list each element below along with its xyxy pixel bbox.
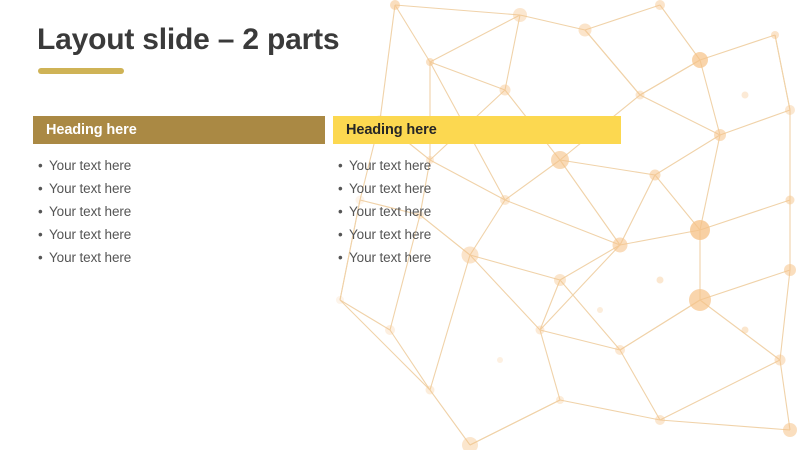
list-item: • Your text here	[33, 204, 325, 227]
heading-label-left: Heading here	[46, 122, 137, 138]
list-item-label: Your text here	[349, 204, 431, 219]
bullet-dot-icon: •	[38, 159, 49, 173]
list-item-label: Your text here	[349, 181, 431, 196]
bullet-dot-icon: •	[338, 159, 349, 173]
list-item-label: Your text here	[49, 181, 131, 196]
bullet-dot-icon: •	[338, 182, 349, 196]
list-item: • Your text here	[33, 250, 325, 273]
list-item-label: Your text here	[49, 158, 131, 173]
bullet-dot-icon: •	[338, 251, 349, 265]
list-item: • Your text here	[33, 227, 325, 250]
bullet-dot-icon: •	[38, 251, 49, 265]
bullet-dot-icon: •	[338, 205, 349, 219]
list-item-label: Your text here	[49, 204, 131, 219]
bullet-dot-icon: •	[38, 182, 49, 196]
bullet-list-right: • Your text here • Your text here • Your…	[333, 158, 621, 273]
list-item: • Your text here	[333, 227, 621, 250]
bullet-list-left: • Your text here • Your text here • Your…	[33, 158, 325, 273]
list-item: • Your text here	[333, 181, 621, 204]
list-item: • Your text here	[33, 181, 325, 204]
list-item: • Your text here	[33, 158, 325, 181]
list-item-label: Your text here	[49, 250, 131, 265]
content-column-right: Heading here • Your text here • Your tex…	[333, 116, 621, 273]
content-column-left: Heading here • Your text here • Your tex…	[33, 116, 325, 273]
list-item: • Your text here	[333, 158, 621, 181]
slide-canvas: Layout slide – 2 parts Heading here • Yo…	[0, 0, 800, 450]
bullet-dot-icon: •	[38, 228, 49, 242]
list-item-label: Your text here	[49, 227, 131, 242]
bullet-dot-icon: •	[38, 205, 49, 219]
bullet-dot-icon: •	[338, 228, 349, 242]
list-item: • Your text here	[333, 250, 621, 273]
list-item-label: Your text here	[349, 227, 431, 242]
list-item: • Your text here	[333, 204, 621, 227]
page-title: Layout slide – 2 parts	[37, 22, 339, 58]
slide-content: Layout slide – 2 parts Heading here • Yo…	[0, 0, 800, 450]
list-item-label: Your text here	[349, 250, 431, 265]
list-item-label: Your text here	[349, 158, 431, 173]
heading-bar-right: Heading here	[333, 116, 621, 144]
title-underline-accent	[38, 68, 124, 74]
heading-bar-left: Heading here	[33, 116, 325, 144]
heading-label-right: Heading here	[346, 122, 437, 138]
